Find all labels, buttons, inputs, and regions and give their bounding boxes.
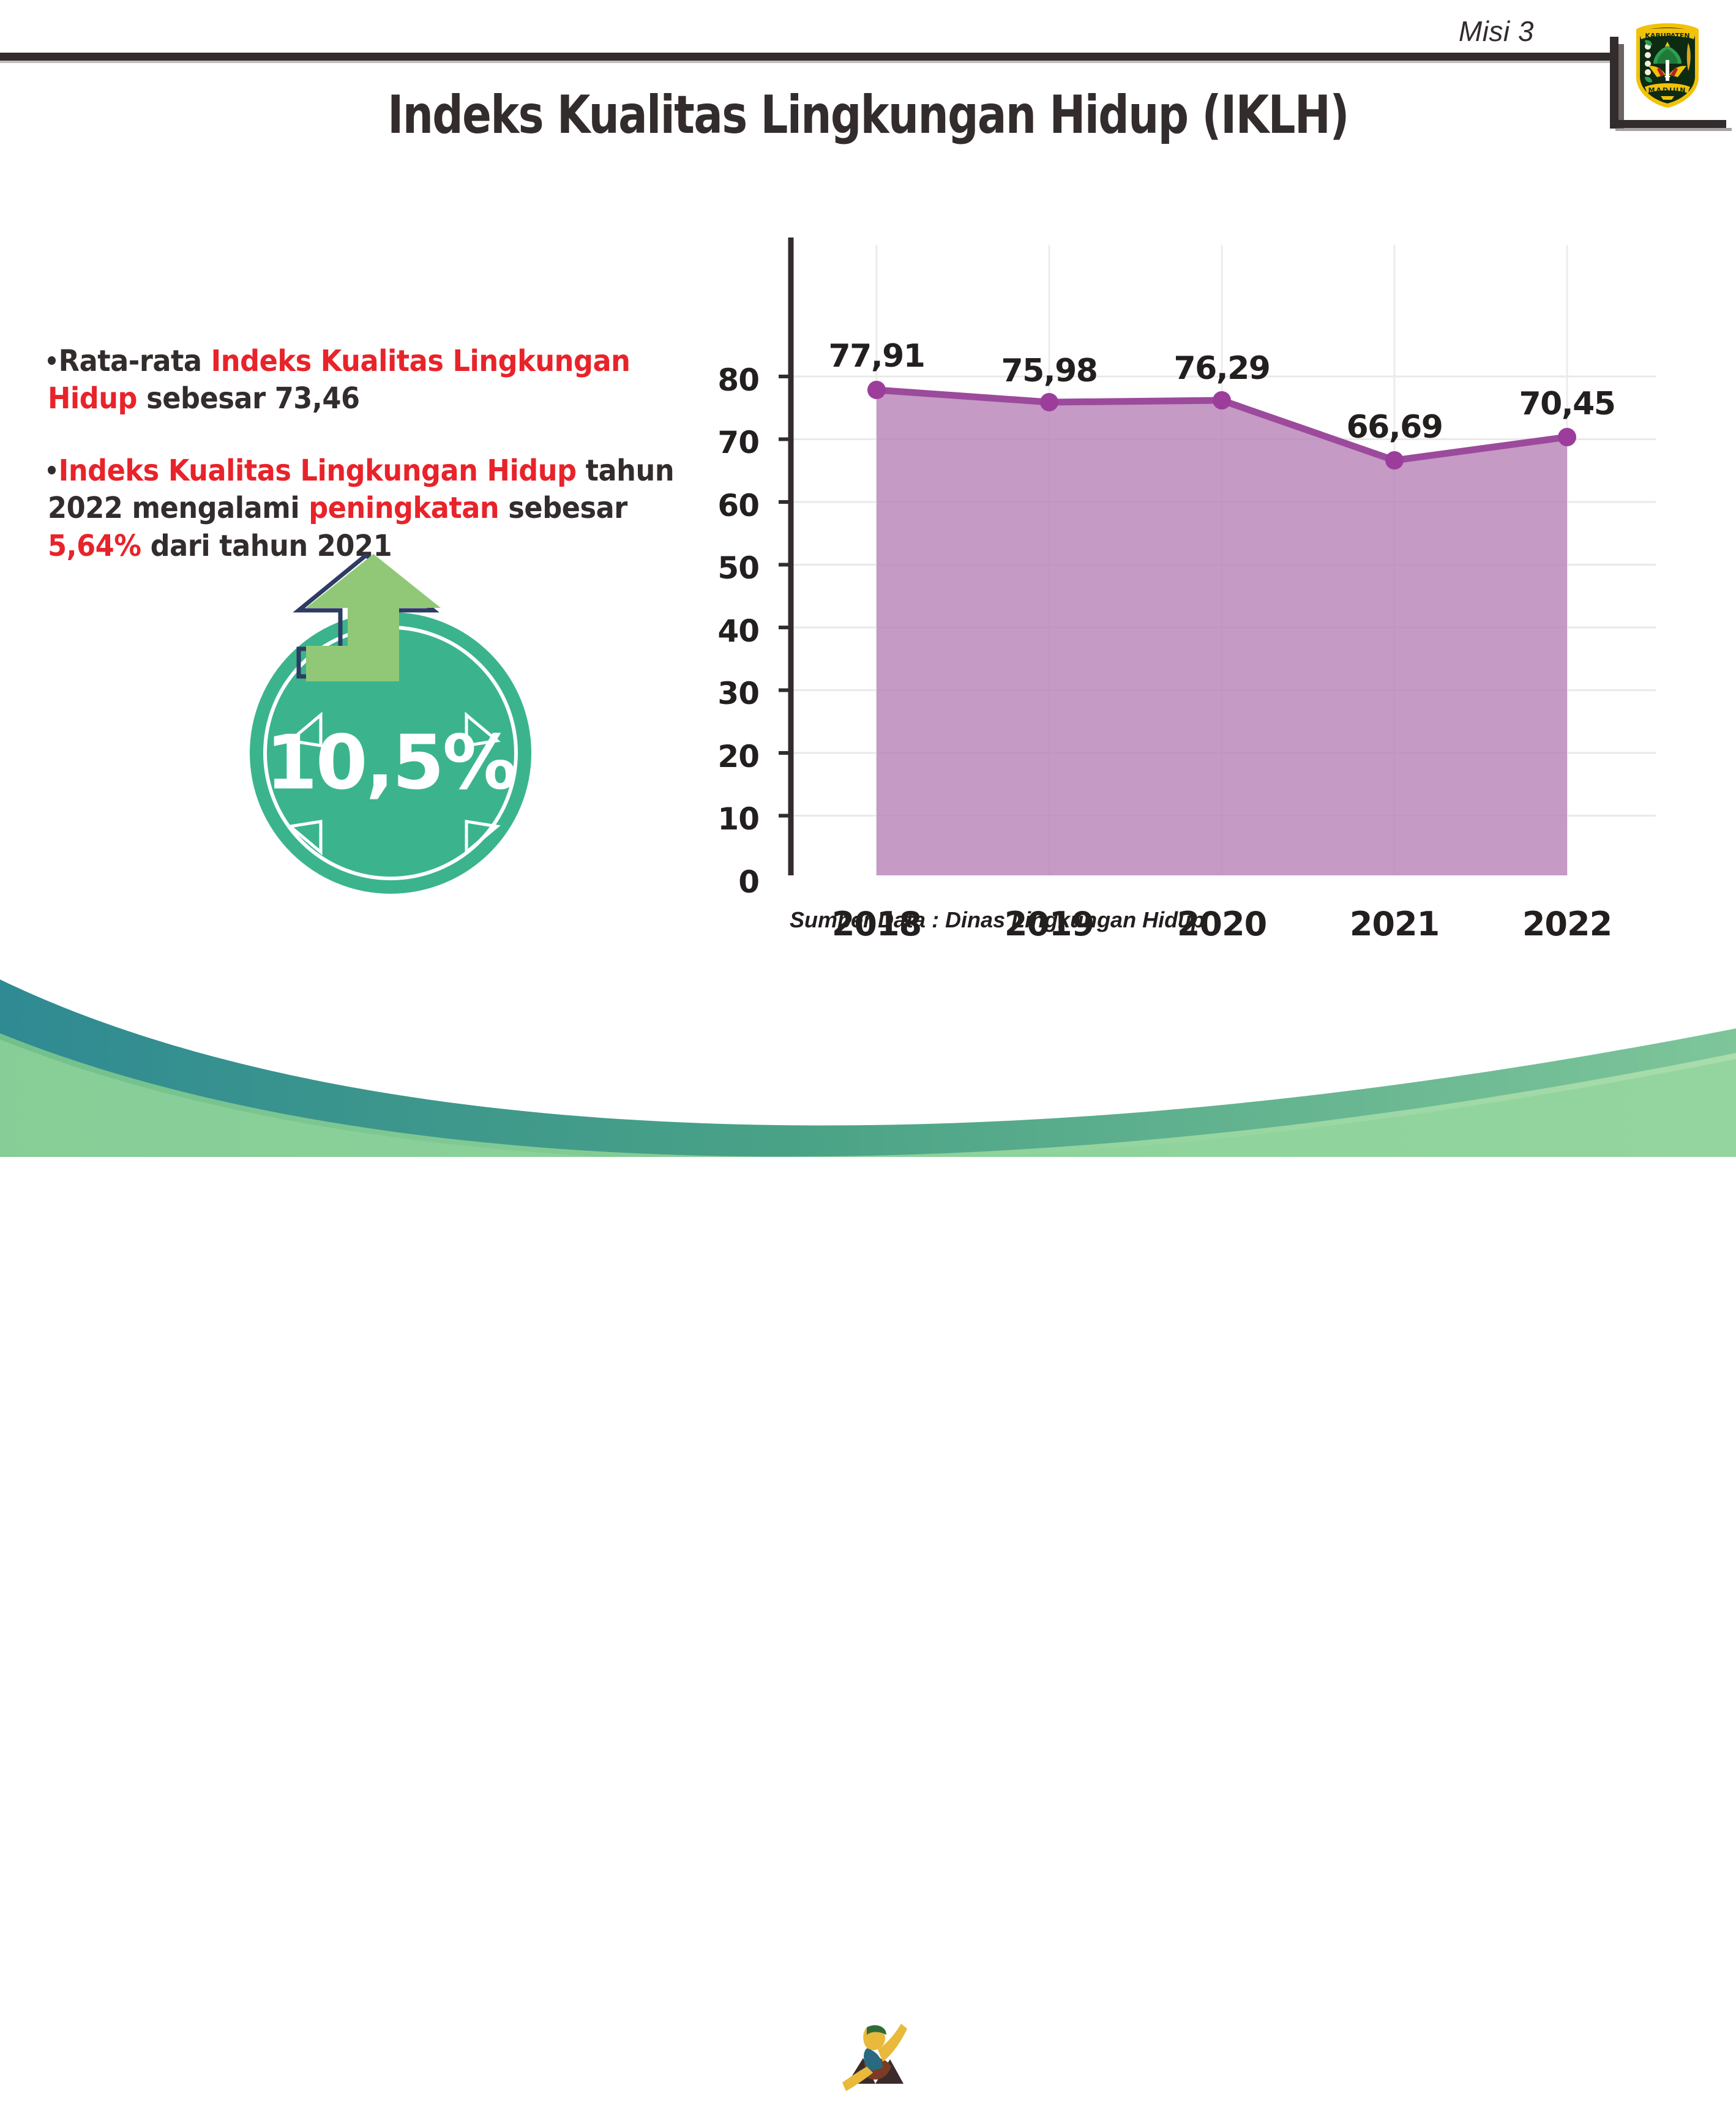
bullet-dot-icon: [48, 466, 56, 474]
infographic-slide: Misi 3 KABUPATEN MADIUN: [0, 0, 1736, 1157]
data-label-2020: 76,29: [1151, 350, 1292, 387]
data-label-2019: 75,98: [979, 353, 1120, 389]
list-item: Indeks Kualitas Lingkungan Hidup tahun 2…: [48, 452, 679, 565]
bullet-2-seg-3: sebesar: [499, 491, 627, 525]
y-tick-label-80: 80: [686, 362, 759, 398]
footer-wave-shapes: [0, 961, 1736, 1157]
y-tick-label-60: 60: [686, 488, 759, 523]
y-tick-label-70: 70: [686, 425, 759, 460]
badge-tick-bottom-left-icon: [285, 814, 334, 857]
badge-percentage-value: 10,5%: [250, 719, 531, 806]
data-label-2022: 70,45: [1497, 386, 1637, 422]
misi-label: Misi 3: [1459, 15, 1534, 48]
page-title: Indeks Kualitas Lingkungan Hidup (IKLH): [156, 84, 1580, 146]
data-label-2018: 77,91: [806, 338, 947, 375]
bullet-1-seg-2: sebesar 73,46: [137, 381, 360, 416]
key-findings-list: Rata-rata Indeks Kualitas Lingkungan Hid…: [48, 343, 727, 565]
increase-badge: 10,5%: [238, 554, 556, 894]
y-tick-label-20: 20: [686, 739, 759, 774]
statistics-figure-icon: [840, 2015, 907, 2107]
y-tick-label-30: 30: [686, 676, 759, 711]
data-label-2021: 66,69: [1324, 409, 1465, 446]
footer-wave: Media Infografis Data Statistik Sektoral…: [0, 961, 1736, 1157]
x-tick-label-2022: 2022: [1500, 905, 1634, 943]
logo-bracket-horizontal: [1610, 120, 1726, 128]
bullet-2-seg-4: 5,64%: [48, 529, 141, 563]
svg-text:KABUPATEN: KABUPATEN: [1645, 32, 1689, 40]
list-item: Rata-rata Indeks Kualitas Lingkungan Hid…: [48, 343, 679, 418]
y-tick-label-50: 50: [686, 550, 759, 586]
y-tick-label-10: 10: [686, 801, 759, 837]
kabupaten-madiun-logo-icon: KABUPATEN MADIUN: [1630, 18, 1705, 110]
footer-caption: Media Infografis Data Statistik Sektoral…: [900, 2048, 1666, 2081]
source-note: Sumber Data : Dinas Lingkungan Hidup: [790, 907, 1205, 933]
bullet-1-seg-0: Rata-rata: [59, 344, 211, 378]
svg-text:MADIUN: MADIUN: [1648, 86, 1687, 94]
bullet-2-seg-0: Indeks Kualitas Lingkungan Hidup: [59, 454, 577, 488]
chart-area-fill: [877, 390, 1567, 875]
header-rule-shadow: [0, 61, 1615, 63]
chart-canvas: [710, 202, 1696, 875]
iklh-area-chart: 0 10 20 30 40 50 60 70 80 2018 2019 2020…: [710, 202, 1696, 875]
bullet-2-seg-2: peningkatan: [309, 491, 499, 525]
logo-bracket-vertical: [1610, 37, 1618, 129]
header-rule: [0, 53, 1615, 61]
y-tick-label-40: 40: [686, 613, 759, 649]
bullet-dot-icon: [48, 356, 56, 365]
logo-bracket-vertical-shadow: [1618, 44, 1624, 129]
y-tick-label-0: 0: [686, 864, 759, 900]
badge-tick-bottom-right-icon: [453, 814, 502, 857]
logo-bracket-horizontal-shadow: [1615, 128, 1732, 131]
x-tick-label-2021: 2021: [1327, 905, 1462, 943]
